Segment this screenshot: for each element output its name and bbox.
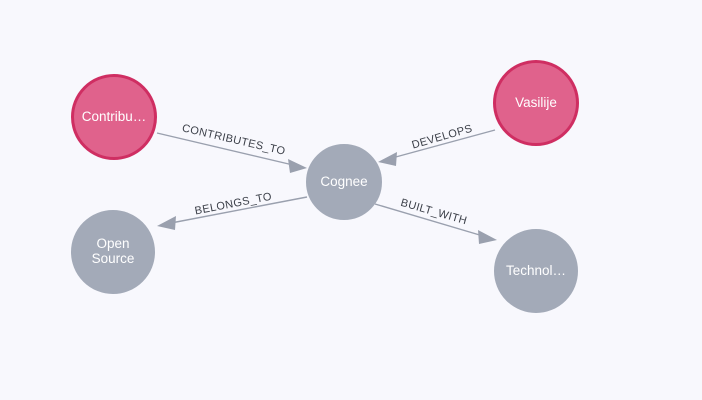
- graph-node-vasilije[interactable]: Vasilije: [493, 60, 579, 146]
- graph-node-cognee[interactable]: Cognee: [306, 144, 382, 220]
- edge-contributes-to[interactable]: CONTRIBUTES_TO: [157, 122, 307, 173]
- edge-label-built-with: BUILT_WITH: [399, 197, 468, 227]
- edge-arrowhead-built-with: [478, 230, 497, 244]
- edge-arrowhead-develops: [378, 152, 397, 166]
- graph-node-technology[interactable]: Technol…: [494, 229, 578, 313]
- edge-label-contributes-to: CONTRIBUTES_TO: [181, 122, 287, 157]
- graph-node-label: Cognee: [315, 175, 372, 190]
- graph-node-label: Vasilije: [510, 96, 562, 111]
- graph-node-label: Contribu…: [77, 110, 152, 125]
- edge-belongs-to[interactable]: BELONGS_TO: [157, 191, 307, 230]
- edge-arrowhead-contributes-to: [288, 159, 307, 173]
- graph-canvas[interactable]: CONTRIBUTES_TO DEVELOPS BELONGS_TO BUILT…: [0, 0, 702, 400]
- edge-develops[interactable]: DEVELOPS: [378, 123, 495, 166]
- graph-node-label: Technol…: [501, 264, 571, 279]
- graph-node-contributor[interactable]: Contribu…: [71, 74, 157, 160]
- graph-node-label: Open Source: [87, 237, 140, 266]
- edge-label-belongs-to: BELONGS_TO: [194, 191, 273, 218]
- edge-built-with[interactable]: BUILT_WITH: [375, 197, 497, 244]
- edge-label-develops: DEVELOPS: [410, 123, 473, 152]
- edge-arrowhead-belongs-to: [157, 216, 176, 230]
- graph-node-open-source[interactable]: Open Source: [71, 210, 155, 294]
